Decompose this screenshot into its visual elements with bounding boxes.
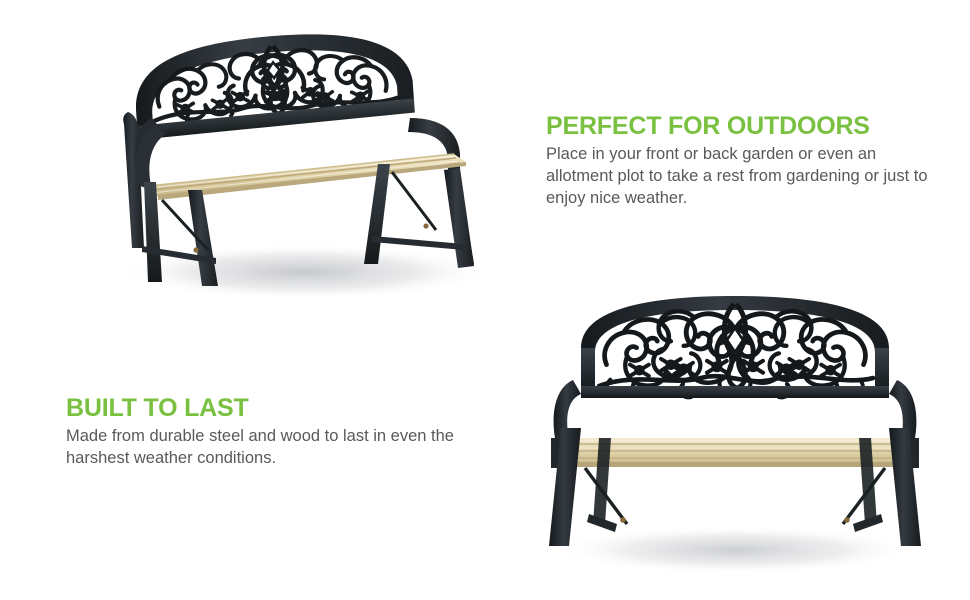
feature-heading-outdoors: PERFECT FOR OUTDOORS	[546, 112, 946, 140]
bench-image-durable	[525, 288, 945, 588]
feature-heading-durable: BUILT TO LAST	[66, 394, 466, 422]
product-feature-banner: PERFECT FOR OUTDOORS Place in your front…	[0, 0, 970, 600]
feature-body-durable: Made from durable steel and wood to last…	[66, 426, 466, 470]
bench-image-outdoors	[92, 14, 500, 314]
feature-body-outdoors: Place in your front or back garden or ev…	[546, 144, 946, 210]
feature-block-durable: BUILT TO LAST Made from durable steel an…	[66, 394, 466, 470]
feature-block-outdoors: PERFECT FOR OUTDOORS Place in your front…	[546, 112, 946, 210]
